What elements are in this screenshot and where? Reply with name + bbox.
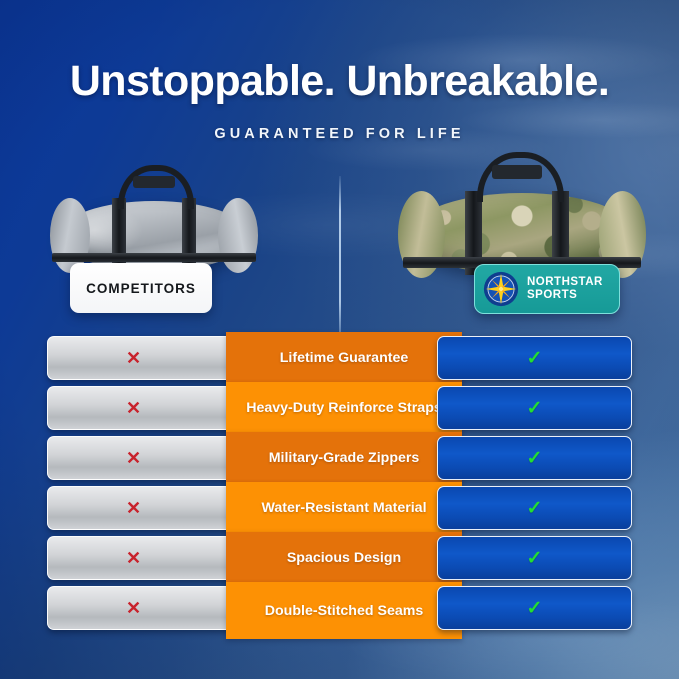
table-row: ✕ Heavy-Duty Reinforce Straps ✓ xyxy=(0,386,679,430)
feature-label: Heavy-Duty Reinforce Straps xyxy=(226,382,462,433)
competitors-label-text: COMPETITORS xyxy=(86,281,196,296)
cross-icon: ✕ xyxy=(126,499,141,517)
brand-cell: ✓ xyxy=(437,536,632,580)
feature-label: Spacious Design xyxy=(226,532,462,583)
vertical-divider-icon xyxy=(339,176,341,333)
feature-label: Double-Stitched Seams xyxy=(226,582,462,639)
table-row: ✕ Double-Stitched Seams ✓ xyxy=(0,586,679,630)
cross-icon: ✕ xyxy=(126,549,141,567)
feature-label: Water-Resistant Material xyxy=(226,482,462,533)
cross-icon: ✕ xyxy=(126,449,141,467)
brand-name: NORTHSTAR SPORTS xyxy=(527,276,603,302)
feature-label: Lifetime Guarantee xyxy=(226,332,462,383)
page-subtitle: GUARANTEED FOR LIFE xyxy=(0,126,679,142)
brand-name-line1: NORTHSTAR xyxy=(527,276,603,288)
cross-icon: ✕ xyxy=(126,599,141,617)
bag-strap-horizontal xyxy=(52,253,256,262)
brand-cell: ✓ xyxy=(437,386,632,430)
brand-cell: ✓ xyxy=(437,586,632,630)
brand-cell: ✓ xyxy=(437,336,632,380)
cross-icon: ✕ xyxy=(126,399,141,417)
check-icon: ✓ xyxy=(527,599,543,618)
check-icon: ✓ xyxy=(527,399,543,418)
brand-cell: ✓ xyxy=(437,436,632,480)
brand-cell: ✓ xyxy=(437,486,632,530)
comparison-table: ✕ Lifetime Guarantee ✓ ✕ Heavy-Duty Rein… xyxy=(0,333,679,643)
bag-handle-wrap xyxy=(492,165,542,179)
check-icon: ✓ xyxy=(527,449,543,468)
bag-handle-wrap xyxy=(133,176,175,188)
check-icon: ✓ xyxy=(527,349,543,368)
check-icon: ✓ xyxy=(527,499,543,518)
page-title: Unstoppable. Unbreakable. xyxy=(0,57,679,106)
table-row: ✕ Military-Grade Zippers ✓ xyxy=(0,436,679,480)
cross-icon: ✕ xyxy=(126,349,141,367)
brand-name-line2: SPORTS xyxy=(527,289,577,301)
check-icon: ✓ xyxy=(527,549,543,568)
table-row: ✕ Spacious Design ✓ xyxy=(0,536,679,580)
competitors-label: COMPETITORS xyxy=(70,263,212,313)
table-row: ✕ Water-Resistant Material ✓ xyxy=(0,486,679,530)
feature-label: Military-Grade Zippers xyxy=(226,432,462,483)
brand-badge: NORTHSTAR SPORTS xyxy=(474,264,620,314)
infographic-canvas: Unstoppable. Unbreakable. GUARANTEED FOR… xyxy=(0,0,679,679)
compass-star-logo-icon xyxy=(483,271,519,307)
table-row: ✕ Lifetime Guarantee ✓ xyxy=(0,336,679,380)
